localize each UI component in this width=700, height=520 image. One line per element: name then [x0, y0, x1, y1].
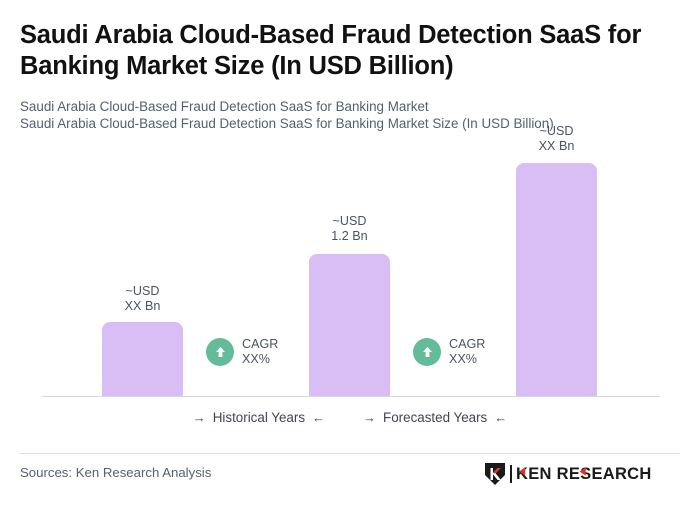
- bar-chart-plot-area: ~USD XX Bn CAGR XX% ~USD 1.2 Bn: [0, 0, 700, 400]
- axis-baseline: [42, 396, 660, 397]
- chart-page: Saudi Arabia Cloud-Based Fraud Detection…: [0, 0, 700, 520]
- cagr-badge-1: CAGR XX%: [206, 337, 278, 366]
- bar-1: [102, 322, 183, 396]
- arrow-right-icon: →: [193, 411, 206, 424]
- cagr-badge-1-value: XX%: [242, 352, 278, 367]
- footer-divider: [20, 453, 680, 454]
- legend-item-forecasted-years: → Forecasted Years ←: [363, 410, 507, 425]
- cagr-badge-2-value: XX%: [449, 352, 485, 367]
- year-range-legend: → Historical Years ← → Forecasted Years …: [0, 410, 700, 425]
- bar-value-label-3-line-1: ~USD: [516, 124, 597, 139]
- legend-label-historical-years: Historical Years: [213, 410, 305, 425]
- cagr-badge-2-label: CAGR: [449, 337, 485, 352]
- legend-label-forecasted-years: Forecasted Years: [383, 410, 487, 425]
- bar-value-label-2-line-1: ~USD: [309, 214, 390, 229]
- shield-k-icon: [484, 462, 506, 486]
- bar-2: [309, 254, 390, 396]
- ken-research-wordmark: KEN RESEARCH: [516, 464, 662, 484]
- bar-3: [516, 163, 597, 396]
- arrow-left-icon: ←: [494, 411, 507, 424]
- arrow-up-icon: [413, 338, 441, 366]
- bar-value-label-1-line-2: XX Bn: [102, 299, 183, 314]
- ken-research-logo: KEN RESEARCH: [484, 463, 662, 485]
- bar-value-label-2: ~USD 1.2 Bn: [309, 214, 390, 243]
- bar-value-label-1: ~USD XX Bn: [102, 284, 183, 313]
- bar-value-label-2-line-2: 1.2 Bn: [309, 229, 390, 244]
- cagr-badge-1-label: CAGR: [242, 337, 278, 352]
- logo-separator-bar: [510, 465, 512, 483]
- arrow-right-icon: →: [363, 411, 376, 424]
- legend-item-historical-years: → Historical Years ←: [193, 410, 325, 425]
- bar-value-label-1-line-1: ~USD: [102, 284, 183, 299]
- sources-text: Sources: Ken Research Analysis: [20, 465, 211, 480]
- arrow-up-icon: [206, 338, 234, 366]
- arrow-left-icon: ←: [312, 411, 325, 424]
- bar-value-label-3: ~USD XX Bn: [516, 124, 597, 153]
- cagr-badge-2-text: CAGR XX%: [449, 337, 485, 366]
- cagr-badge-2: CAGR XX%: [413, 337, 485, 366]
- cagr-badge-1-text: CAGR XX%: [242, 337, 278, 366]
- bar-value-label-3-line-2: XX Bn: [516, 139, 597, 154]
